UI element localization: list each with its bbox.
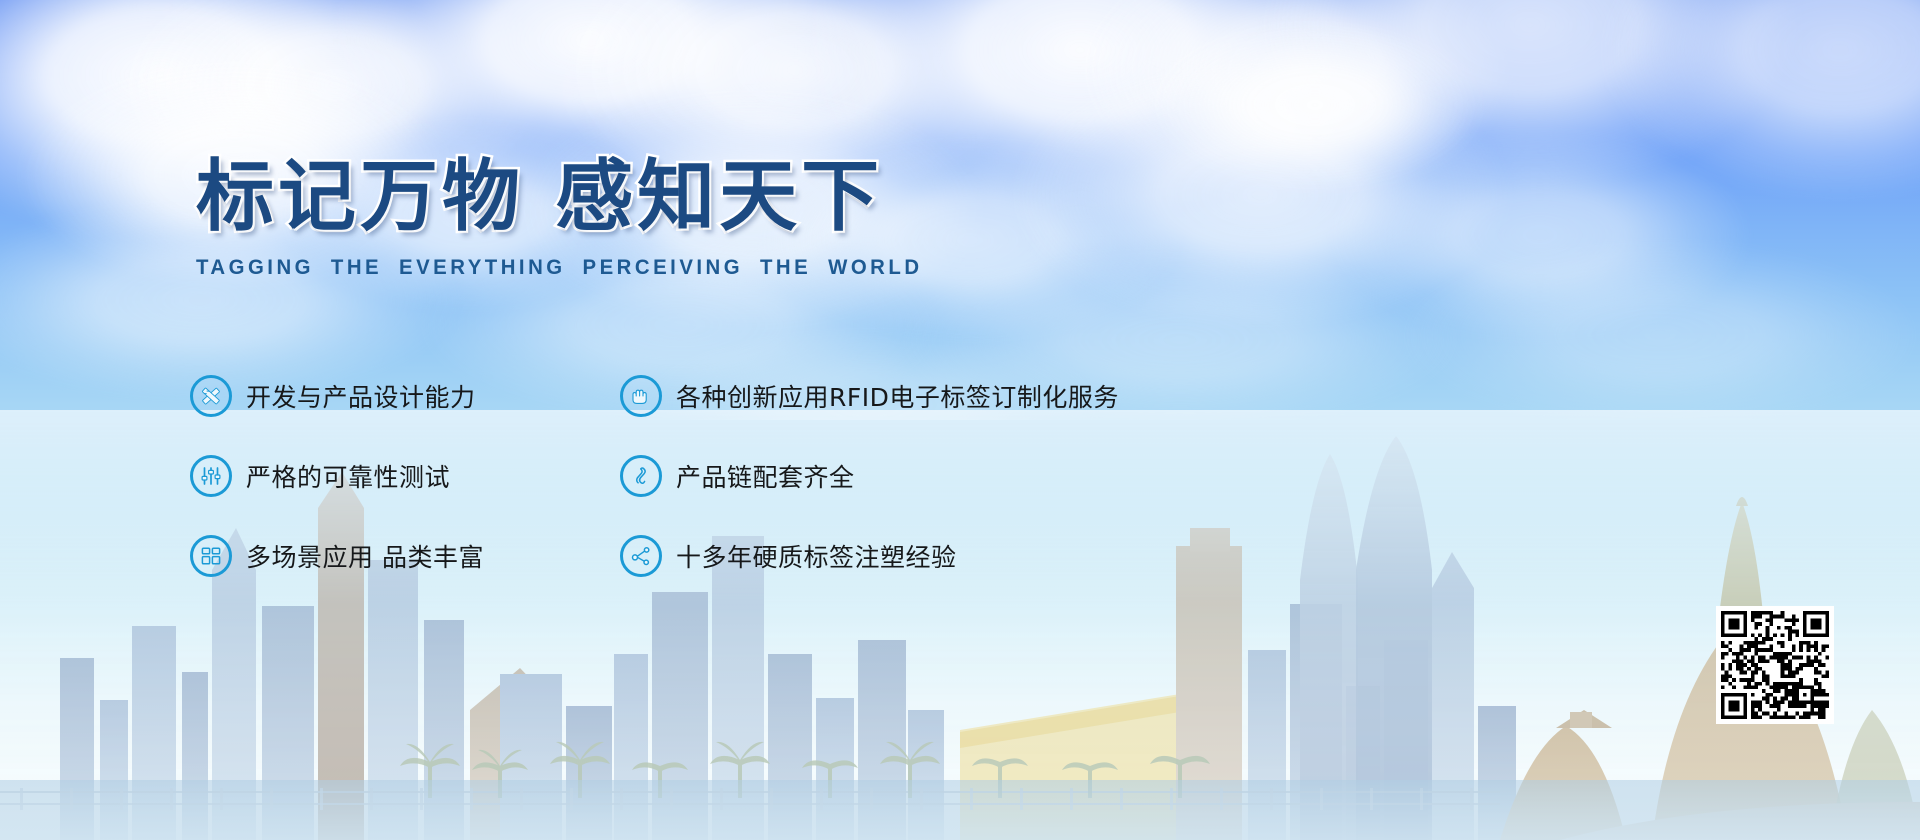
page-subtitle: TAGGING THE EVERYTHING PERCEIVING THE WO… bbox=[196, 256, 923, 280]
crown-hand-icon bbox=[620, 375, 662, 417]
feature-item-product-chain: 产品链配套齐全 bbox=[620, 436, 1310, 516]
feature-item-design-capability: 开发与产品设计能力 bbox=[190, 356, 620, 436]
share-nodes-icon bbox=[620, 535, 662, 577]
promo-banner: 标记万物 感知天下 TAGGING THE EVERYTHING PERCEIV… bbox=[0, 0, 1920, 840]
sliders-icon bbox=[190, 455, 232, 497]
headline-block: 标记万物 感知天下 TAGGING THE EVERYTHING PERCEIV… bbox=[196, 158, 945, 280]
feature-label: 开发与产品设计能力 bbox=[246, 378, 476, 414]
feature-item-reliability-testing: 严格的可靠性测试 bbox=[190, 436, 620, 516]
qr-code-image bbox=[1721, 611, 1829, 719]
feature-item-rfid-custom-service: 各种创新应用RFID电子标签订制化服务 bbox=[620, 356, 1310, 436]
feature-label: 多场景应用 品类丰富 bbox=[246, 538, 484, 574]
feature-label: 各种创新应用RFID电子标签订制化服务 bbox=[676, 378, 1119, 414]
feature-list: 开发与产品设计能力 各种创新应用RFID电子标签订制化服务 bbox=[190, 356, 1310, 596]
grid-windows-icon bbox=[190, 535, 232, 577]
waterfront-water bbox=[0, 780, 1920, 840]
feature-item-multi-scenario: 多场景应用 品类丰富 bbox=[190, 516, 620, 596]
qr-code[interactable] bbox=[1716, 606, 1834, 724]
feature-label: 产品链配套齐全 bbox=[676, 458, 855, 494]
ruler-pencil-icon bbox=[190, 375, 232, 417]
feature-label: 严格的可靠性测试 bbox=[246, 458, 450, 494]
feature-label: 十多年硬质标签注塑经验 bbox=[676, 538, 957, 574]
link-chain-icon bbox=[620, 455, 662, 497]
page-title: 标记万物 感知天下 bbox=[196, 158, 945, 236]
feature-item-molding-experience: 十多年硬质标签注塑经验 bbox=[620, 516, 1310, 596]
